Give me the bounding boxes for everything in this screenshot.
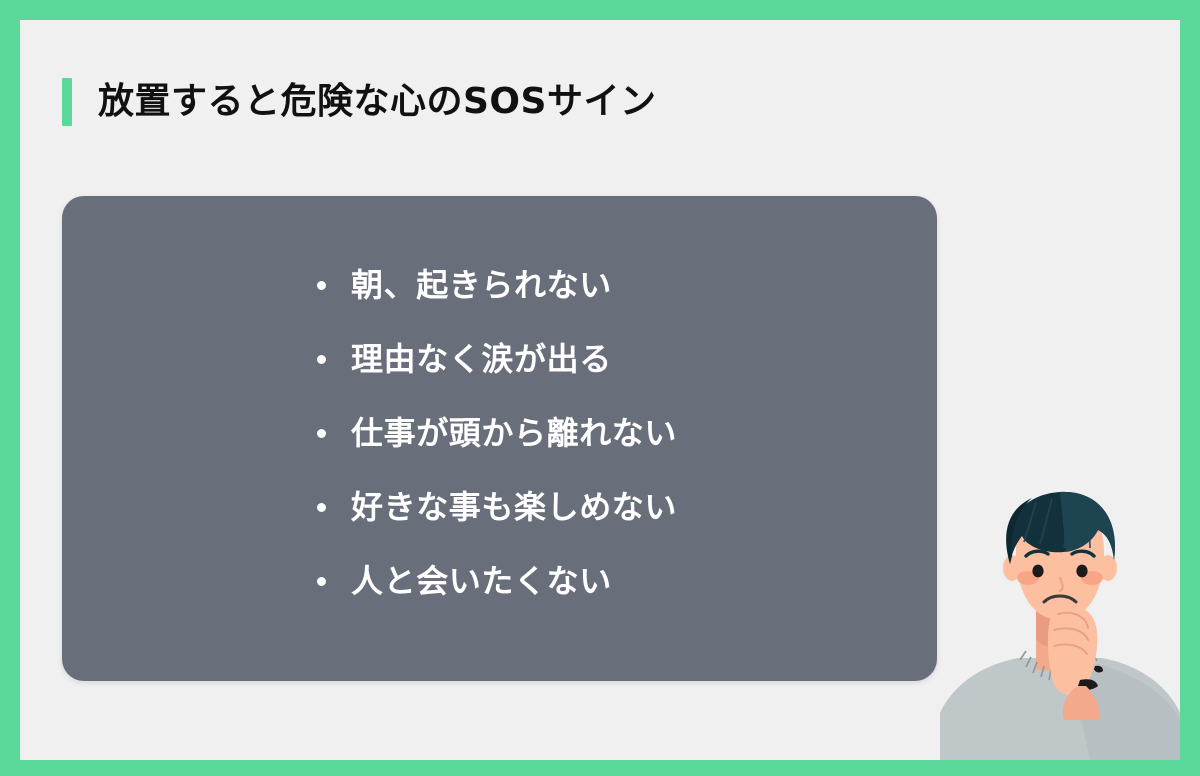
list-item-label: 仕事が頭から離れない [351,417,677,449]
left-eye [1032,565,1043,578]
right-eye [1076,565,1087,578]
symptom-list: 朝、起きられない 理由なく涙が出る 仕事が頭から離れない 好きな事も楽しめない [317,248,677,618]
slide-root: 放置すると危険な心のSOSサイン 朝、起きられない 理由なく涙が出る 仕事が頭か… [0,0,1200,776]
title-label: 放置すると危険な心のSOSサイン [98,84,656,120]
bullet-dot-icon [317,577,326,586]
list-item: 仕事が頭から離れない [317,396,677,470]
list-item: 人と会いたくない [317,544,677,618]
list-item: 朝、起きられない [317,248,677,322]
list-item: 理由なく涙が出る [317,322,677,396]
thinking-man-graphic [940,490,1180,760]
list-item-label: 理由なく涙が出る [351,343,612,375]
thinking-man-illustration [940,490,1180,760]
list-item-label: 朝、起きられない [351,269,612,301]
bullet-dot-icon [317,429,326,438]
list-item-label: 好きな事も楽しめない [351,491,677,523]
bullet-dot-icon [317,503,326,512]
page-title: 放置すると危険な心のSOSサイン [62,78,656,126]
title-accent-bar [62,78,72,126]
bullet-dot-icon [317,355,326,364]
symptom-card: 朝、起きられない 理由なく涙が出る 仕事が頭から離れない 好きな事も楽しめない [62,196,937,681]
list-item-label: 人と会いたくない [351,565,612,597]
list-item: 好きな事も楽しめない [317,470,677,544]
slide-canvas: 放置すると危険な心のSOSサイン 朝、起きられない 理由なく涙が出る 仕事が頭か… [20,20,1180,760]
bullet-dot-icon [317,281,326,290]
